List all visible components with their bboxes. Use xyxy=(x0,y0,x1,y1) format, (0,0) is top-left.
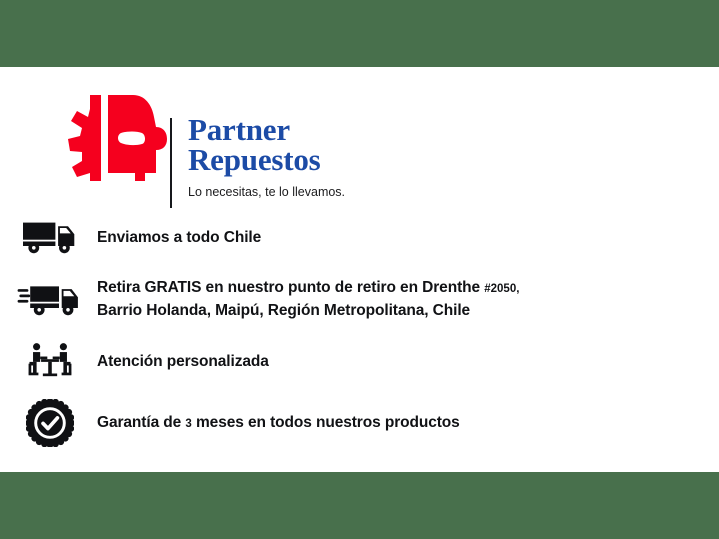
feature-row: Retira GRATIS en nuestro punto de retiro… xyxy=(0,268,719,330)
gear-car-logo-mark xyxy=(57,89,169,187)
logo-wordmark: Partner Repuestos Lo necesitas, te lo ll… xyxy=(188,115,608,199)
green-band-bottom xyxy=(0,472,719,539)
feature-line: Enviamos a todo Chile xyxy=(97,227,709,248)
feature-row: Garantía de 3 meses en todos nuestros pr… xyxy=(0,392,719,454)
feature-text: Enviamos a todo Chile xyxy=(97,206,709,268)
feature-text: Atención personalizada xyxy=(97,330,709,392)
feature-line: Garantía de 3 meses en todos nuestros pr… xyxy=(97,412,709,435)
content-area: Partner Repuestos Lo necesitas, te lo ll… xyxy=(0,67,719,472)
people-at-table-icon xyxy=(14,330,86,392)
feature-list: Enviamos a todo Chile xyxy=(0,206,719,454)
feature-line: Atención personalizada xyxy=(97,351,709,372)
promo-banner: Partner Repuestos Lo necesitas, te lo ll… xyxy=(0,0,719,539)
feature-row: Enviamos a todo Chile xyxy=(0,206,719,268)
fast-delivery-truck-icon xyxy=(14,268,86,330)
brand-logo: Partner Repuestos Lo necesitas, te lo ll… xyxy=(0,89,719,199)
feature-line: Retira GRATIS en nuestro punto de retiro… xyxy=(97,277,709,300)
delivery-truck-icon xyxy=(14,206,86,268)
green-band-top xyxy=(0,0,719,67)
logo-tagline: Lo necesitas, te lo llevamos. xyxy=(188,185,608,199)
address-number: #2050, xyxy=(484,283,519,295)
guarantee-badge-check-icon xyxy=(14,392,86,454)
feature-text: Retira GRATIS en nuestro punto de retiro… xyxy=(97,268,709,330)
logo-name-line1: Partner xyxy=(188,115,608,145)
logo-name-line2: Repuestos xyxy=(188,145,608,175)
feature-line: Barrio Holanda, Maipú, Región Metropolit… xyxy=(97,300,709,321)
feature-line-prefix: Garantía de xyxy=(97,414,185,431)
feature-line-tail: meses en todos nuestros productos xyxy=(192,414,460,431)
logo-divider xyxy=(170,118,172,208)
feature-text: Garantía de 3 meses en todos nuestros pr… xyxy=(97,392,709,454)
feature-line-main: Retira GRATIS en nuestro punto de retiro… xyxy=(97,279,484,296)
feature-row: Atención personalizada xyxy=(0,330,719,392)
